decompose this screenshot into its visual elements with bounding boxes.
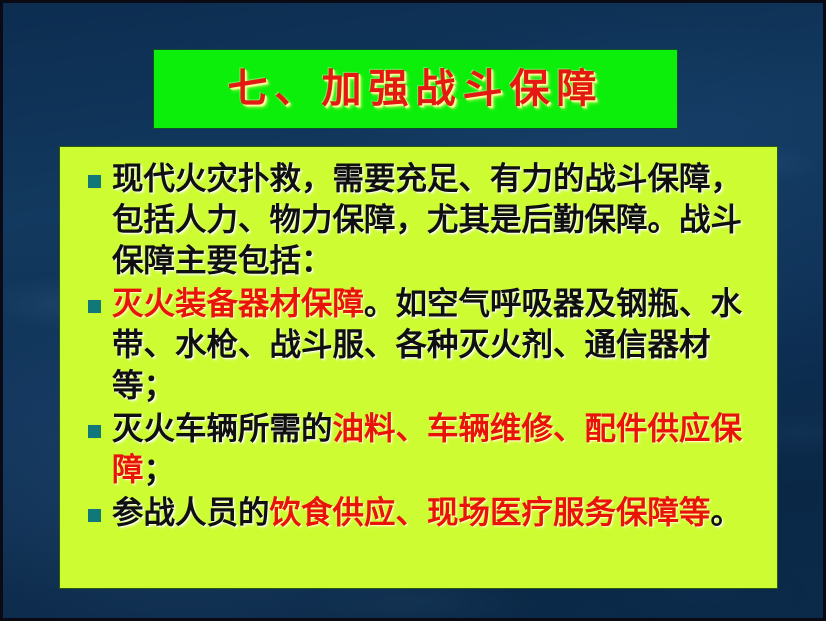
presentation-slide: 七、加强战斗保障 现代火灾扑救，需要充足、有力的战斗保障，包括人力、物力保障，尤… — [0, 0, 826, 621]
bullet-text: 灭火车辆所需的油料、车辆维修、配件供应保障； — [112, 409, 763, 491]
slide-title: 七、加强战斗保障 — [228, 69, 604, 109]
bullet-segment: 参战人员的 — [112, 495, 270, 531]
bullet-segment: 。 — [711, 495, 743, 531]
bullet-segment: 灭火车辆所需的 — [112, 411, 333, 447]
bullet-text: 现代火灾扑救，需要充足、有力的战斗保障，包括人力、物力保障，尤其是后勤保障。战斗… — [112, 159, 763, 282]
square-bullet-icon — [88, 509, 101, 522]
bullet-text: 灭火装备器材保障。如空气呼吸器及钢瓶、水带、水枪、战斗服、各种灭火剂、通信器材等… — [112, 284, 763, 407]
bullet-segment: 现代火灾扑救，需要充足、有力的战斗保障，包括人力、物力保障，尤其是后勤保障。战斗… — [112, 161, 742, 279]
title-banner: 七、加强战斗保障 — [153, 49, 678, 129]
list-item: 灭火车辆所需的油料、车辆维修、配件供应保障； — [74, 409, 763, 491]
square-bullet-icon — [88, 175, 101, 188]
bullet-segment-emphasis: 灭火装备器材保障 — [112, 286, 364, 322]
bullet-segment: ； — [144, 452, 176, 488]
list-item: 参战人员的饮食供应、现场医疗服务保障等。 — [74, 493, 763, 534]
bullet-segment-emphasis: 饮食供应、现场医疗服务保障等 — [270, 495, 711, 531]
list-item: 现代火灾扑救，需要充足、有力的战斗保障，包括人力、物力保障，尤其是后勤保障。战斗… — [74, 159, 763, 282]
list-item: 灭火装备器材保障。如空气呼吸器及钢瓶、水带、水枪、战斗服、各种灭火剂、通信器材等… — [74, 284, 763, 407]
content-box: 现代火灾扑救，需要充足、有力的战斗保障，包括人力、物力保障，尤其是后勤保障。战斗… — [59, 146, 778, 589]
square-bullet-icon — [88, 425, 101, 438]
bullet-text: 参战人员的饮食供应、现场医疗服务保障等。 — [112, 493, 763, 534]
square-bullet-icon — [88, 300, 101, 313]
